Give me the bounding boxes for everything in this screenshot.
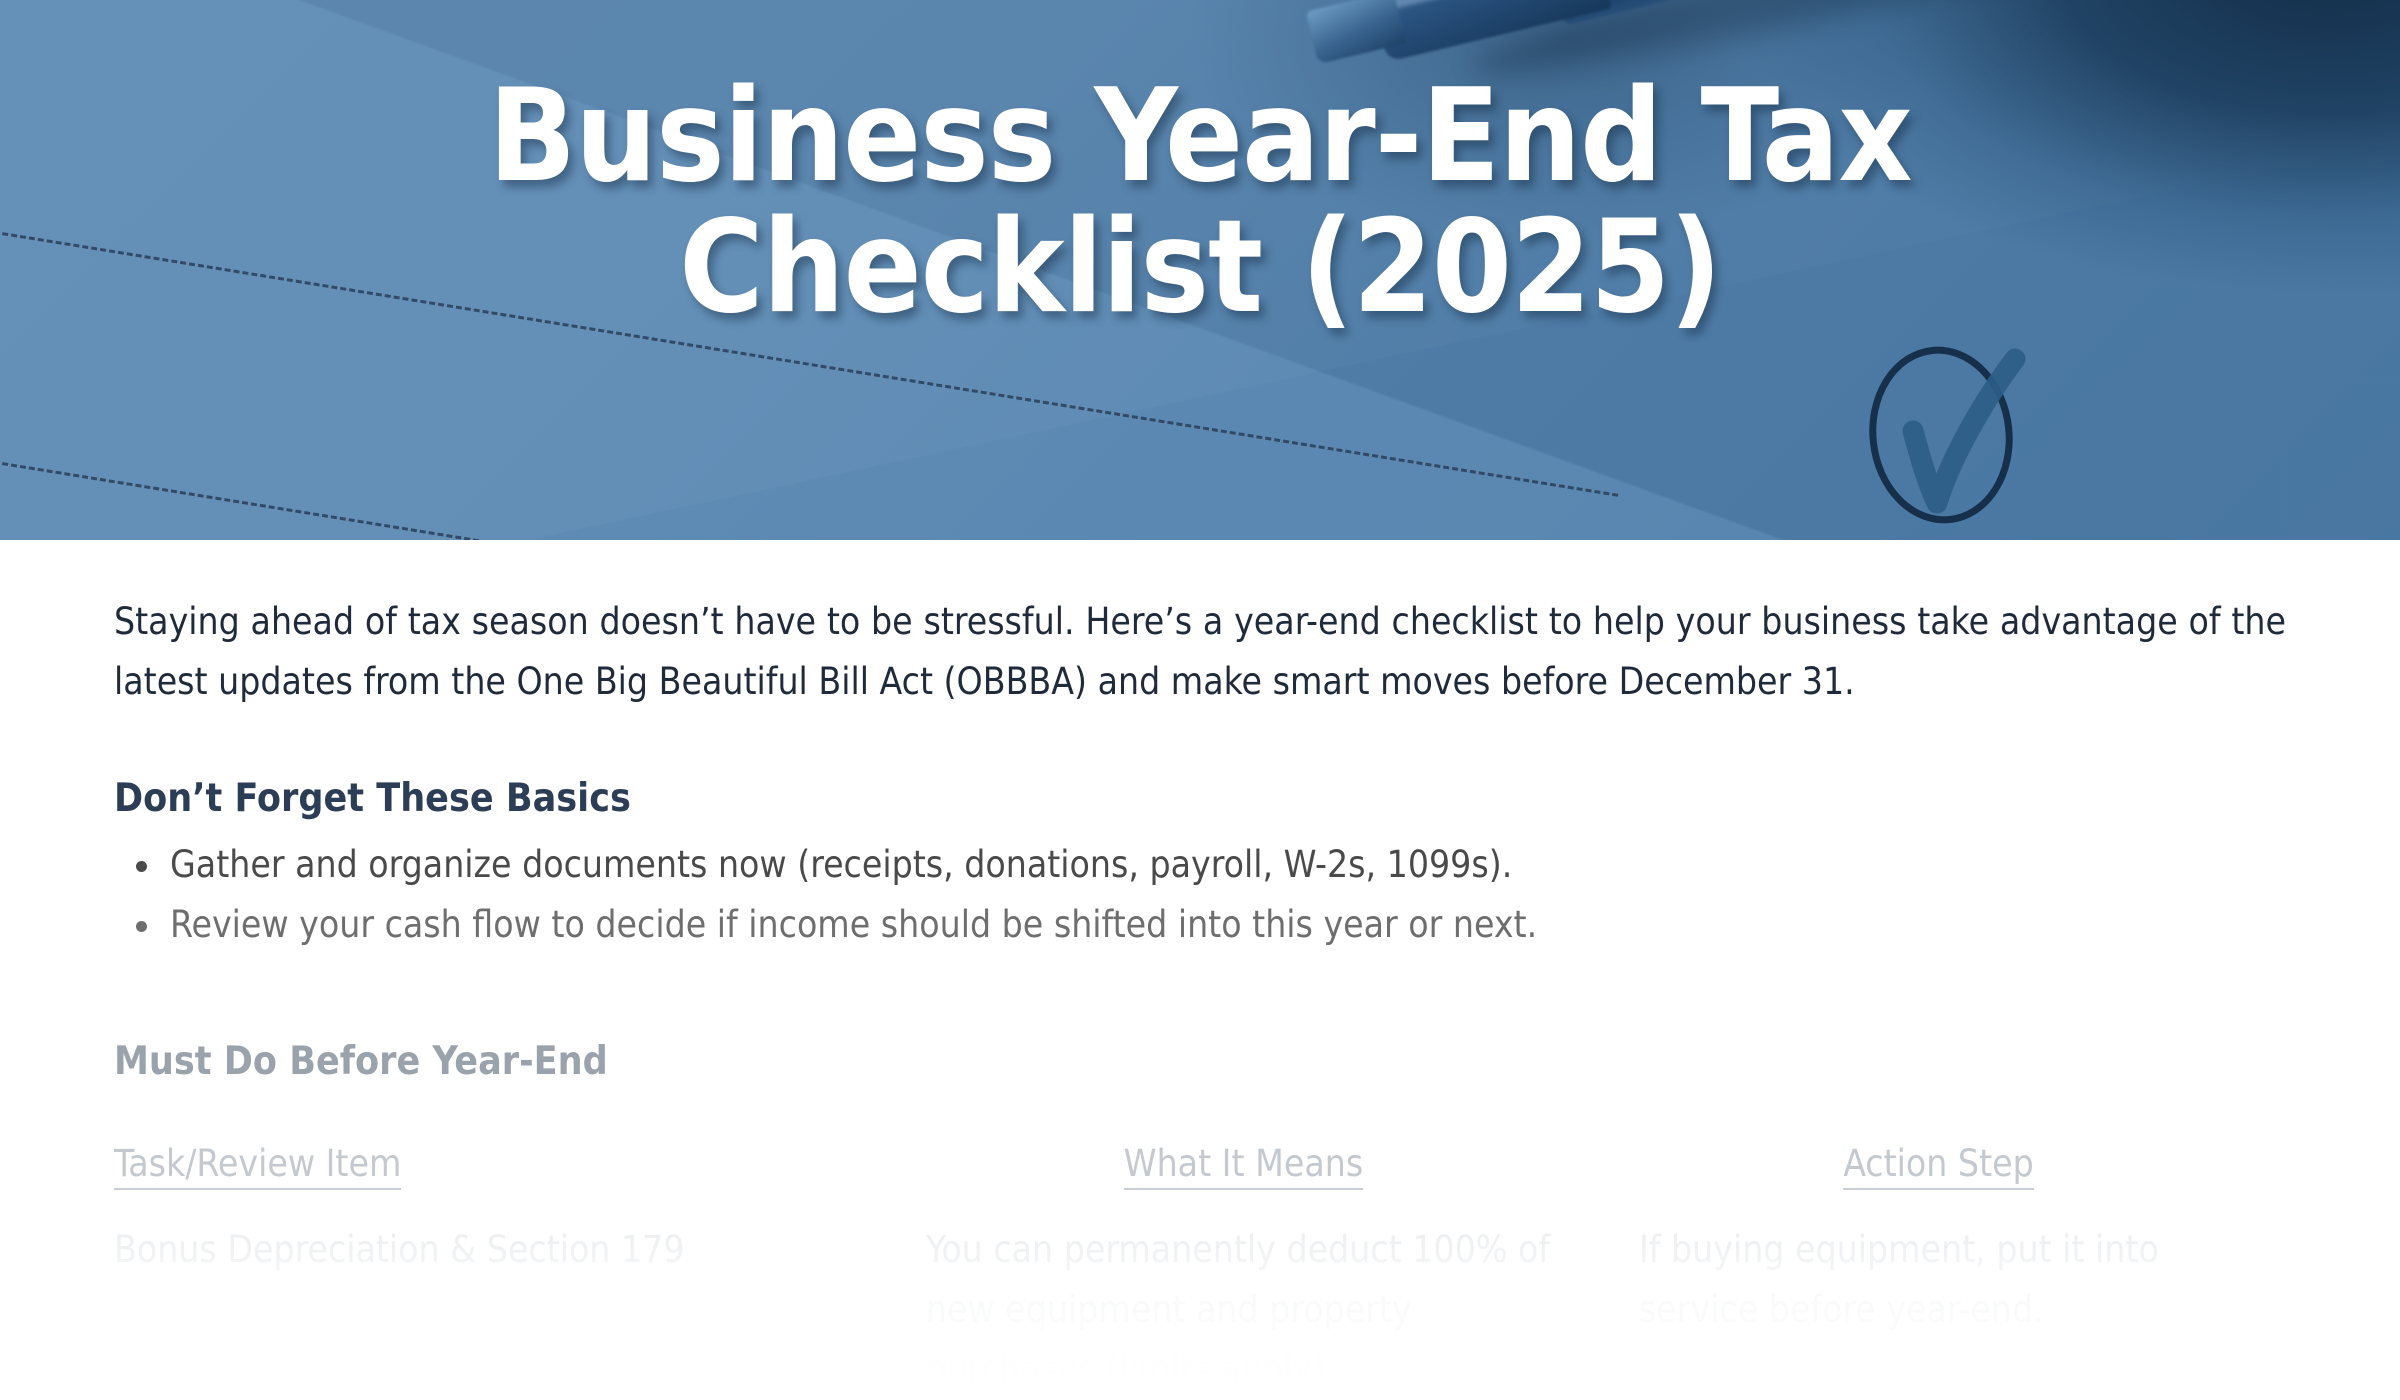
hero-banner: Business Year-End Tax Checklist (2025)	[0, 0, 2400, 540]
page-title: Business Year-End Tax Checklist (2025)	[0, 72, 2400, 333]
cell-task: Bonus Depreciation & Section 179	[114, 1196, 896, 1400]
basics-list: Gather and organize documents now (recei…	[114, 835, 2286, 955]
must-do-heading: Must Do Before Year-End	[114, 1039, 2286, 1084]
cell-action: If buying equipment, put it into service…	[1591, 1196, 2286, 1400]
list-item: Review your cash flow to decide if incom…	[114, 895, 2286, 955]
checklist-table: Task/Review Item What It Means Action St…	[114, 1142, 2286, 1400]
intro-paragraph: Staying ahead of tax season doesn’t have…	[114, 592, 2286, 712]
cell-means: You can permanently deduct 100% of new e…	[896, 1196, 1591, 1400]
table-header-row: Task/Review Item What It Means Action St…	[114, 1142, 2286, 1196]
column-header-means: What It Means	[896, 1142, 1591, 1196]
basics-heading: Don’t Forget These Basics	[114, 776, 2286, 821]
table-row: Bonus Depreciation & Section 179 You can…	[114, 1196, 2286, 1400]
list-item: Gather and organize documents now (recei…	[114, 835, 2286, 895]
check-mark-icon	[1845, 335, 2045, 525]
column-header-action: Action Step	[1591, 1142, 2286, 1196]
document-body: Staying ahead of tax season doesn’t have…	[0, 540, 2400, 1400]
column-header-task: Task/Review Item	[114, 1142, 896, 1196]
